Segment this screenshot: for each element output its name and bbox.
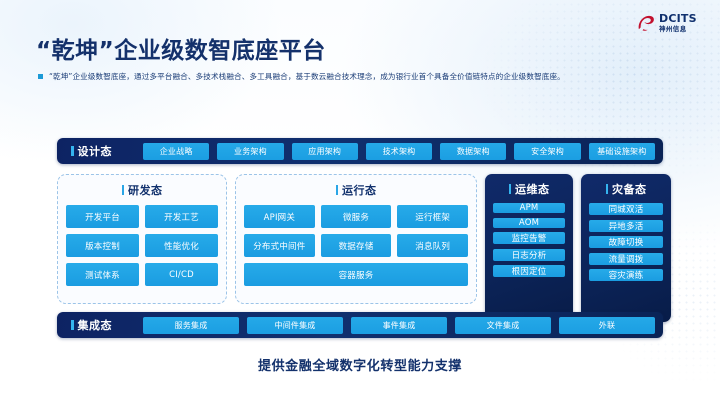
- dev-stage-title-group: 研发态: [66, 182, 218, 198]
- dr-stage-list: 同城双活 异地多活 故障切换 流量调拨 容灾演练: [589, 203, 663, 281]
- page-subtitle: “乾坤”企业级数智底座，通过多平台融合、多技术栈融合、多工具融合，基于数云融合技…: [49, 71, 565, 82]
- runtime-stage-title-group: 运行态: [244, 182, 468, 198]
- dr-cell[interactable]: 容灾演练: [589, 269, 663, 281]
- dev-stage-grid: 开发平台 开发工艺 版本控制 性能优化 测试体系 CI/CD: [66, 205, 218, 286]
- dev-cell[interactable]: 版本控制: [66, 234, 139, 257]
- dr-cell[interactable]: 故障切换: [589, 236, 663, 248]
- brand-logo: DCITS 神州信息: [636, 10, 714, 36]
- design-chip[interactable]: 业务架构: [217, 143, 283, 160]
- ops-stage-column: 运维态 APM AOM 监控告警 日志分析 根因定位: [485, 174, 573, 322]
- ops-cell[interactable]: 日志分析: [493, 249, 565, 261]
- design-stage-label-group: 设计态: [65, 143, 135, 159]
- design-stage-bar: 设计态 企业战略 业务架构 应用架构 技术架构 数据架构 安全架构 基础设施架构: [57, 138, 663, 164]
- square-bullet-icon: [38, 74, 43, 79]
- runtime-cell[interactable]: 消息队列: [397, 234, 468, 257]
- dev-cell[interactable]: 测试体系: [66, 263, 139, 286]
- dr-stage-label: 灾备态: [612, 181, 647, 197]
- dev-stage-row: 开发平台 开发工艺: [66, 205, 218, 228]
- dev-stage-label: 研发态: [128, 182, 163, 198]
- integration-chip[interactable]: 事件集成: [351, 317, 447, 334]
- runtime-stage-row: 容器服务: [244, 263, 468, 286]
- runtime-stage-label: 运行态: [342, 182, 377, 198]
- integration-stage-label-group: 集成态: [65, 317, 135, 333]
- ops-stage-list: APM AOM 监控告警 日志分析 根因定位: [493, 203, 565, 277]
- bar-tick-icon: [606, 184, 609, 194]
- design-chip[interactable]: 基础设施架构: [589, 143, 655, 160]
- design-chip[interactable]: 企业战略: [143, 143, 209, 160]
- dr-cell[interactable]: 同城双活: [589, 203, 663, 215]
- dev-cell[interactable]: 开发平台: [66, 205, 139, 228]
- dev-stage-row: 版本控制 性能优化: [66, 234, 218, 257]
- bar-tick-icon: [71, 320, 74, 330]
- ops-stage-label: 运维态: [515, 181, 550, 197]
- dcits-swoosh-icon: [636, 13, 656, 33]
- platform-architecture-diagram: 设计态 企业战略 业务架构 应用架构 技术架构 数据架构 安全架构 基础设施架构…: [57, 138, 663, 338]
- integration-stage-label: 集成态: [78, 317, 113, 333]
- runtime-cell[interactable]: 分布式中间件: [244, 234, 315, 257]
- integration-chip[interactable]: 中间件集成: [247, 317, 343, 334]
- ops-stage-title-group: 运维态: [493, 181, 565, 197]
- runtime-cell[interactable]: 微服务: [321, 205, 392, 228]
- ops-cell[interactable]: APM: [493, 203, 565, 213]
- slide-canvas: DCITS 神州信息 “乾坤”企业级数智底座平台 “乾坤”企业级数智底座，通过多…: [0, 0, 720, 405]
- design-stage-label: 设计态: [78, 143, 113, 159]
- integration-chip[interactable]: 外联: [559, 317, 655, 334]
- bar-tick-icon: [71, 146, 74, 156]
- dev-stage-row: 测试体系 CI/CD: [66, 263, 218, 286]
- dev-cell[interactable]: 性能优化: [145, 234, 218, 257]
- ops-cell[interactable]: AOM: [493, 218, 565, 228]
- subtitle-row: “乾坤”企业级数智底座，通过多平台融合、多技术栈融合、多工具融合，基于数云融合技…: [38, 71, 565, 82]
- runtime-stage-row: 分布式中间件 数据存储 消息队列: [244, 234, 468, 257]
- dev-stage-card: 研发态 开发平台 开发工艺 版本控制 性能优化 测试体系 CI/CD: [57, 174, 227, 304]
- design-chip[interactable]: 安全架构: [514, 143, 580, 160]
- dr-cell[interactable]: 流量调拨: [589, 253, 663, 265]
- design-chip[interactable]: 数据架构: [440, 143, 506, 160]
- page-title: “乾坤”企业级数智底座平台: [36, 31, 326, 65]
- dev-cell[interactable]: CI/CD: [145, 263, 218, 286]
- bar-tick-icon: [336, 185, 339, 195]
- ops-cell[interactable]: 根因定位: [493, 265, 565, 277]
- runtime-stage-row: API网关 微服务 运行框架: [244, 205, 468, 228]
- brand-name-en: DCITS: [659, 13, 697, 24]
- runtime-stage-card: 运行态 API网关 微服务 运行框架 分布式中间件 数据存储 消息队列 容器服务: [235, 174, 477, 304]
- runtime-cell-wide[interactable]: 容器服务: [244, 263, 468, 286]
- dr-stage-title-group: 灾备态: [589, 181, 663, 197]
- runtime-stage-grid: API网关 微服务 运行框架 分布式中间件 数据存储 消息队列 容器服务: [244, 205, 468, 286]
- design-chip[interactable]: 技术架构: [366, 143, 432, 160]
- integration-chip[interactable]: 文件集成: [455, 317, 551, 334]
- ops-cell[interactable]: 监控告警: [493, 232, 565, 244]
- footer-tagline: 提供金融全域数字化转型能力支撑: [0, 355, 720, 374]
- runtime-cell[interactable]: API网关: [244, 205, 315, 228]
- brand-name-cn: 神州信息: [659, 26, 697, 33]
- integration-stage-bar: 集成态 服务集成 中间件集成 事件集成 文件集成 外联: [57, 312, 663, 338]
- bar-tick-icon: [509, 184, 512, 194]
- dev-cell[interactable]: 开发工艺: [145, 205, 218, 228]
- disaster-recovery-stage-column: 灾备态 同城双活 异地多活 故障切换 流量调拨 容灾演练: [581, 174, 671, 322]
- integration-chip[interactable]: 服务集成: [143, 317, 239, 334]
- runtime-cell[interactable]: 数据存储: [321, 234, 392, 257]
- design-chip[interactable]: 应用架构: [292, 143, 358, 160]
- runtime-cell[interactable]: 运行框架: [397, 205, 468, 228]
- bar-tick-icon: [122, 185, 125, 195]
- dr-cell[interactable]: 异地多活: [589, 220, 663, 232]
